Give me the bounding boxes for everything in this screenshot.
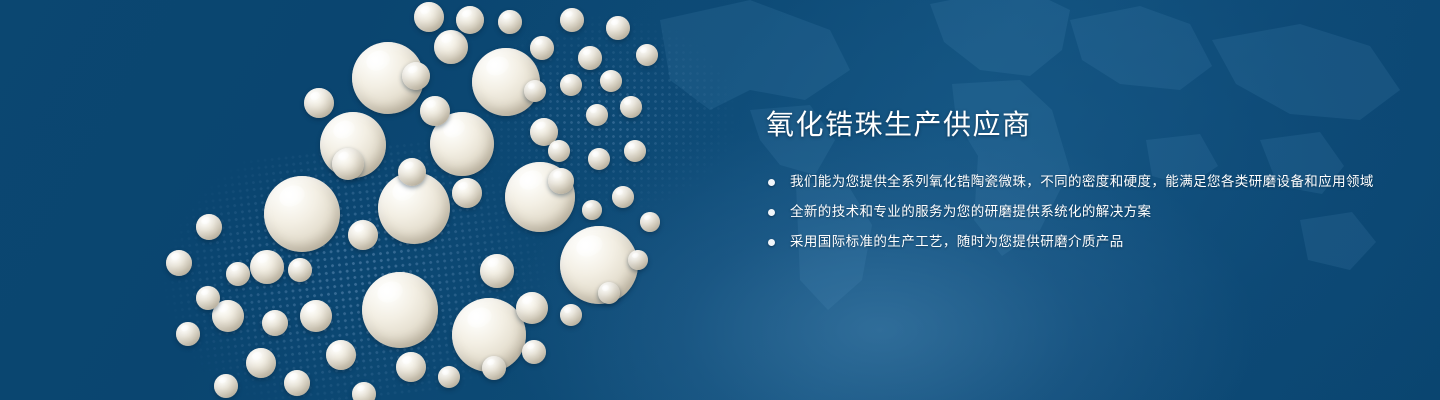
feature-bullet-text: 全新的技术和专业的服务为您的研磨提供系统化的解决方案 [790,204,1151,220]
feature-bullet-item: 全新的技术和专业的服务为您的研磨提供系统化的解决方案 [766,201,1386,224]
page-title: 氧化锆珠生产供应商 [766,108,1386,142]
feature-bullet-text: 采用国际标准的生产工艺，随时为您提供研磨介质产品 [790,234,1124,250]
banner-copy: 氧化锆珠生产供应商 我们能为您提供全系列氧化锆陶瓷微珠，不同的密度和硬度，能满足… [766,108,1386,254]
hero-banner: 氧化锆珠生产供应商 我们能为您提供全系列氧化锆陶瓷微珠，不同的密度和硬度，能满足… [0,0,1440,400]
feature-bullet-item: 采用国际标准的生产工艺，随时为您提供研磨介质产品 [766,231,1386,254]
bullet-dot-icon [768,209,775,216]
bullet-dot-icon [768,179,775,186]
feature-bullet-item: 我们能为您提供全系列氧化锆陶瓷微珠，不同的密度和硬度，能满足您各类研磨设备和应用… [766,171,1386,194]
bullet-dot-icon [768,239,775,246]
feature-bullet-list: 我们能为您提供全系列氧化锆陶瓷微珠，不同的密度和硬度，能满足您各类研磨设备和应用… [766,171,1386,254]
feature-bullet-text: 我们能为您提供全系列氧化锆陶瓷微珠，不同的密度和硬度，能满足您各类研磨设备和应用… [790,174,1374,190]
